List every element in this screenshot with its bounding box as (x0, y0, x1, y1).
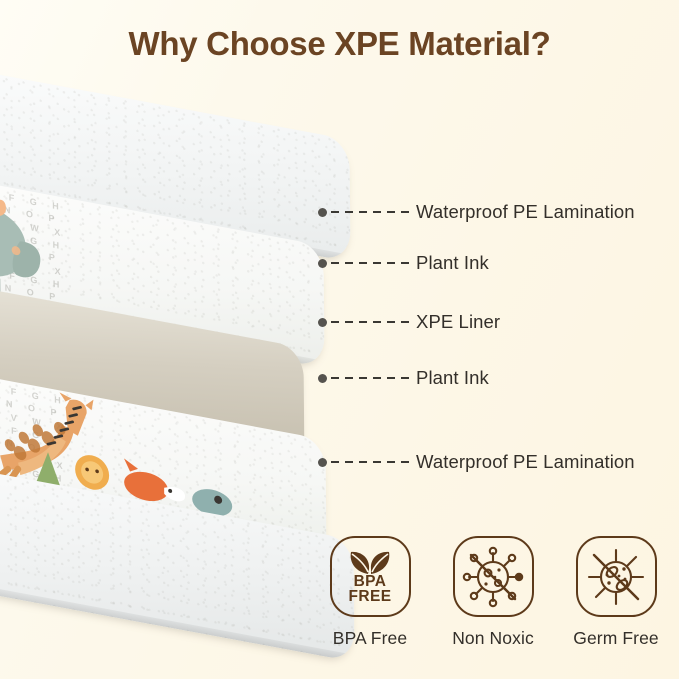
bullet-dot-icon (318, 208, 327, 217)
badge-label: Non Noxic (452, 628, 534, 649)
badge-non-noxic: Non Noxic (441, 536, 545, 664)
callout-label: Plant Ink (416, 367, 489, 389)
callout-plant-ink-top: Plant Ink (318, 252, 489, 274)
bpa-inner-text: BPA FREE (349, 575, 392, 604)
callout-plant-ink-bottom: Plant Ink (318, 367, 489, 389)
certification-badges: BPA FREE BPA Free (318, 536, 668, 664)
badge-frame (576, 536, 657, 617)
leader-line (331, 377, 409, 379)
bpa-free-leaf-icon (347, 549, 393, 575)
leader-line (331, 321, 409, 323)
badge-frame (453, 536, 534, 617)
bullet-dot-icon (318, 259, 327, 268)
badge-frame: BPA FREE (330, 536, 411, 617)
callout-waterproof-pe-lamination-top: Waterproof PE Lamination (318, 201, 635, 223)
leader-line (331, 262, 409, 264)
leader-line (331, 211, 409, 213)
bullet-dot-icon (318, 458, 327, 467)
callout-waterproof-pe-lamination-bottom: Waterproof PE Lamination (318, 451, 635, 473)
infographic-canvas: Why Choose XPE Material? A B C D E F G H… (0, 0, 679, 679)
badge-bpa-free: BPA FREE BPA Free (318, 536, 422, 664)
exploded-mat-illustration: A B C D E F G HI J K L M N O PQ R S T U … (0, 60, 350, 620)
bullet-dot-icon (318, 318, 327, 327)
page-title: Why Choose XPE Material? (0, 25, 679, 63)
virus-slashed-icon (462, 546, 524, 608)
callout-label: Waterproof PE Lamination (416, 201, 635, 223)
badge-label: Germ Free (573, 628, 659, 649)
bullet-dot-icon (318, 374, 327, 383)
badge-germ-free: Germ Free (564, 536, 668, 664)
leader-line (331, 461, 409, 463)
callout-xpe-liner: XPE Liner (318, 311, 500, 333)
badge-label: BPA Free (333, 628, 407, 649)
callout-label: Plant Ink (416, 252, 489, 274)
callout-label: Waterproof PE Lamination (416, 451, 635, 473)
callout-label: XPE Liner (416, 311, 500, 333)
germ-slashed-icon (585, 546, 647, 608)
